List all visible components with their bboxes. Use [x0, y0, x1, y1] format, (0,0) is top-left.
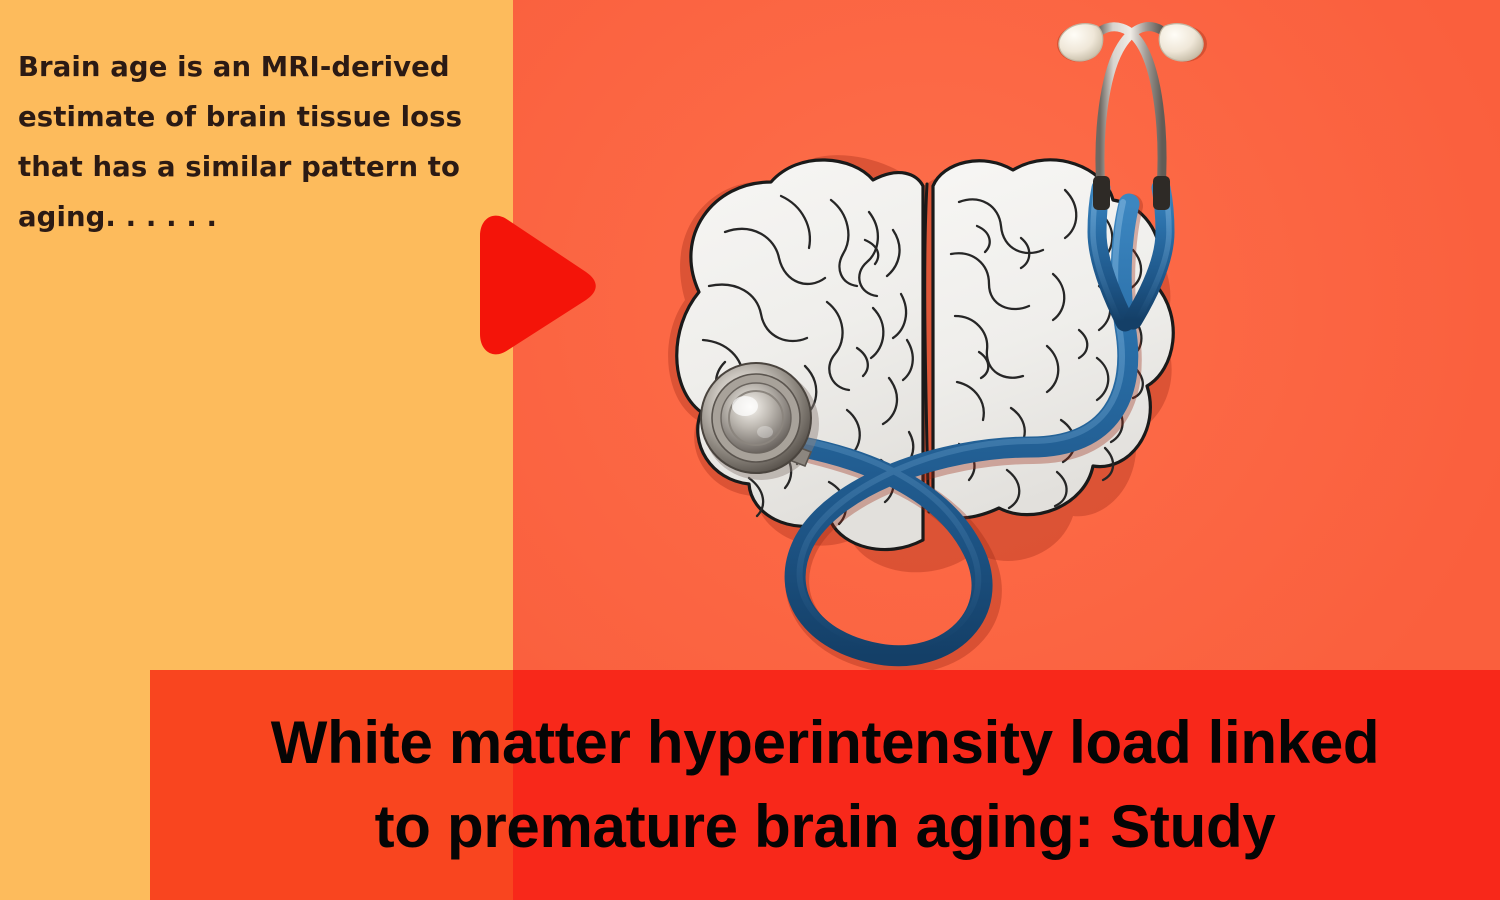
news-card: Brain age is an MRI-derived estimate of …	[0, 0, 1500, 900]
play-button[interactable]	[462, 212, 598, 356]
play-triangle-icon	[480, 216, 596, 355]
connector-left	[1093, 176, 1110, 210]
headline-text: White matter hyperintensity load linked …	[150, 670, 1500, 900]
headline-line-1: White matter hyperintensity load linked	[271, 701, 1380, 785]
headline-line-2: to premature brain aging: Study	[375, 785, 1276, 869]
headline-banner: White matter hyperintensity load linked …	[150, 670, 1500, 900]
chestpiece-diaphragm	[721, 383, 791, 453]
intro-paragraph: Brain age is an MRI-derived estimate of …	[18, 42, 496, 242]
chestpiece-highlight	[732, 396, 758, 416]
connector-right	[1153, 176, 1170, 210]
